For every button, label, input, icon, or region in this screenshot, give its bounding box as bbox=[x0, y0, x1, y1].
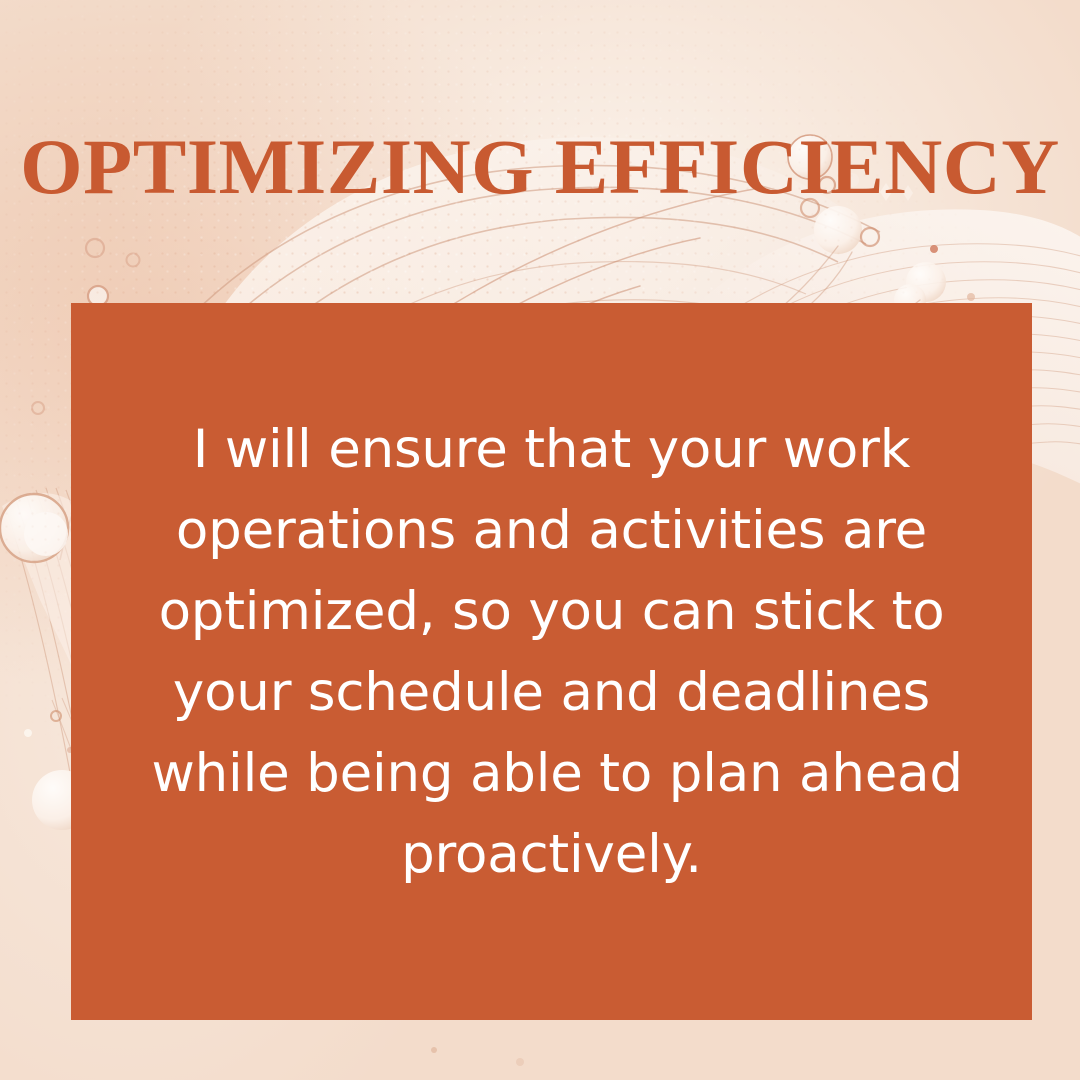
statement-line: proactively. bbox=[152, 814, 952, 895]
statement-card: I will ensure that your work operations … bbox=[71, 303, 1032, 1020]
page-title: OPTIMIZING EFFICIENCY bbox=[0, 128, 1080, 206]
statement-line: I will ensure that your work bbox=[152, 409, 952, 490]
statement-line: your schedule and deadlines bbox=[152, 652, 952, 733]
statement-line: optimized, so you can stick to bbox=[152, 571, 952, 652]
statement-line: while being able to plan ahead bbox=[152, 733, 952, 814]
statement-line: operations and activities are bbox=[152, 490, 952, 571]
statement-body: I will ensure that your work operations … bbox=[152, 409, 952, 895]
poster-canvas: OPTIMIZING EFFICIENCY I will ensure that… bbox=[0, 0, 1080, 1080]
